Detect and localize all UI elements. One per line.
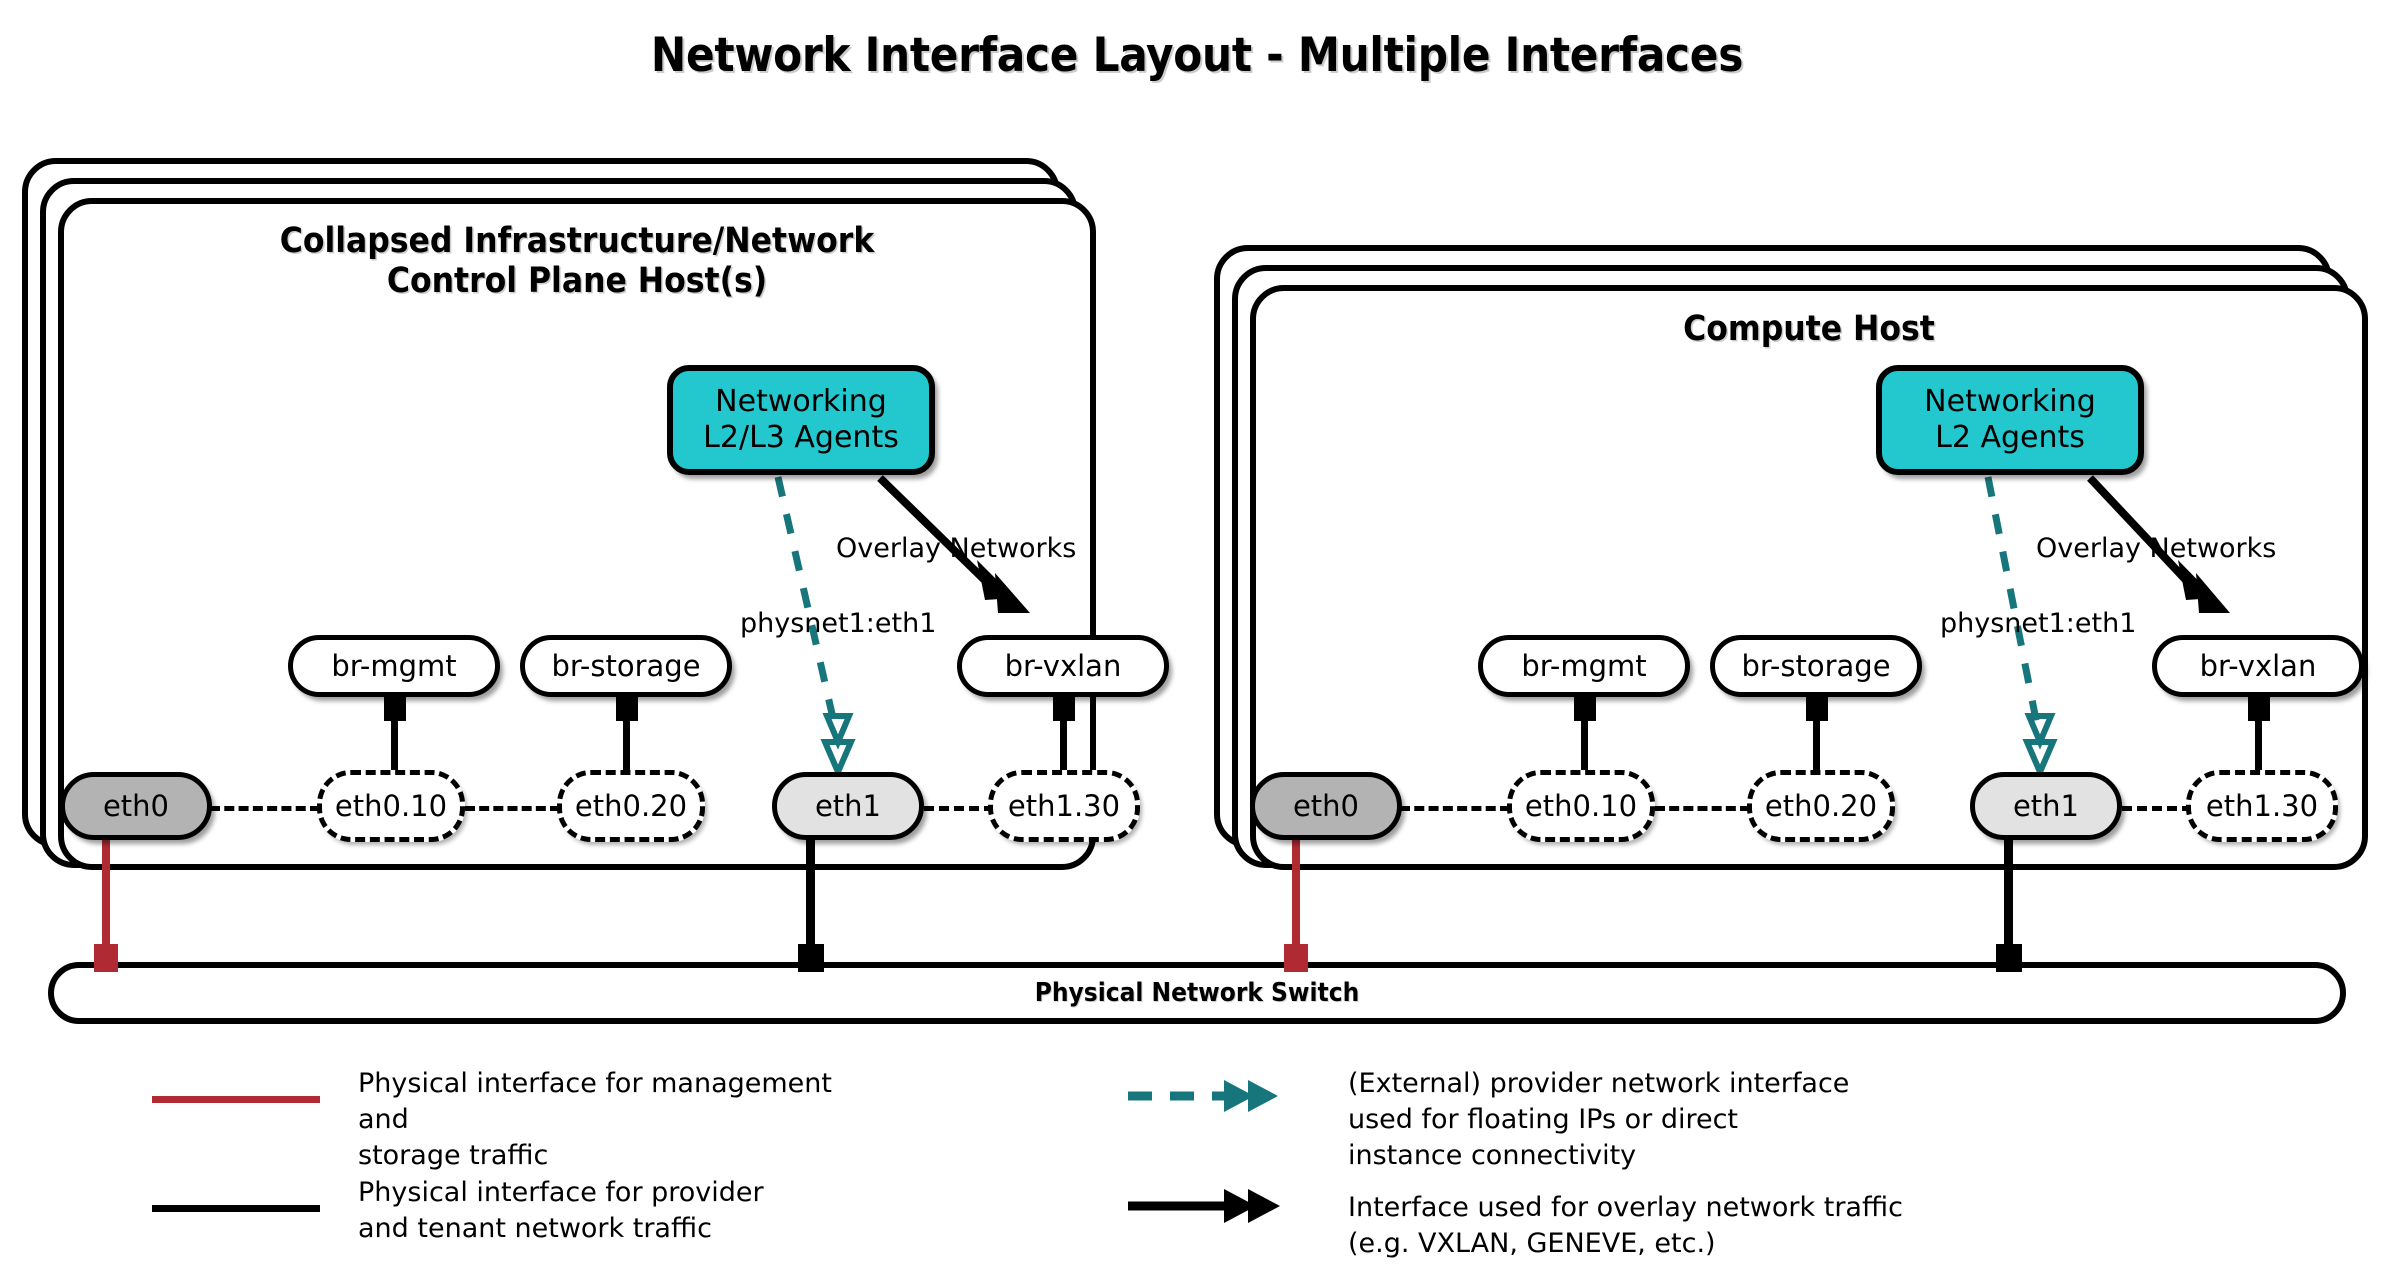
host-title-line-2: Control Plane Host(s) bbox=[58, 262, 1096, 302]
switch-port-plug-eth0-cp bbox=[94, 944, 118, 972]
bridge-plug-br-storage-cp bbox=[616, 695, 638, 721]
bridge-label: br-mgmt bbox=[331, 652, 456, 681]
interface-eth0-10-control-plane[interactable]: eth0.10 bbox=[317, 770, 465, 842]
networking-agents-box-compute[interactable]: Networking L2 Agents bbox=[1876, 365, 2144, 475]
interface-eth1-30-control-plane[interactable]: eth1.30 bbox=[988, 770, 1140, 842]
host-title-line-1: Compute Host bbox=[1250, 310, 2368, 350]
iface-link-eth0-eth0v10-cp bbox=[210, 806, 320, 811]
overlay-networks-label-control-plane: Overlay Networks bbox=[836, 533, 1076, 564]
legend-label-external-provider: (External) provider network interface us… bbox=[1348, 1066, 1968, 1174]
interface-eth0-20-compute[interactable]: eth0.20 bbox=[1747, 770, 1895, 842]
host-title-compute: Compute Host bbox=[1250, 310, 2368, 350]
uplink-eth1-to-switch-cp bbox=[806, 836, 815, 961]
bridge-label: br-storage bbox=[551, 652, 700, 681]
bridge-plug-br-mgmt-cp bbox=[384, 695, 406, 721]
interface-eth0-10-compute[interactable]: eth0.10 bbox=[1507, 770, 1655, 842]
uplink-eth1-to-switch-compute bbox=[2004, 836, 2013, 961]
bridge-br-storage-compute[interactable]: br-storage bbox=[1710, 635, 1922, 697]
physical-switch-label: Physical Network Switch bbox=[1035, 978, 1359, 1008]
uplink-eth0-to-switch-cp bbox=[102, 836, 110, 961]
bridge-br-vxlan-compute[interactable]: br-vxlan bbox=[2152, 635, 2364, 697]
interface-label: eth1.30 bbox=[1008, 792, 1120, 821]
uplink-eth0-to-switch-compute bbox=[1292, 836, 1300, 961]
interface-label: eth0 bbox=[1293, 792, 1359, 821]
interface-eth0-control-plane[interactable]: eth0 bbox=[60, 772, 212, 840]
bridge-br-vxlan-control-plane[interactable]: br-vxlan bbox=[957, 635, 1169, 697]
bridge-plug-br-vxlan-cp bbox=[1053, 695, 1075, 721]
interface-eth1-control-plane[interactable]: eth1 bbox=[772, 772, 924, 840]
networking-agents-box-control-plane[interactable]: Networking L2/L3 Agents bbox=[667, 365, 935, 475]
bridge-br-storage-control-plane[interactable]: br-storage bbox=[520, 635, 732, 697]
host-title-line-1: Collapsed Infrastructure/Network bbox=[58, 222, 1096, 262]
bridge-br-mgmt-compute[interactable]: br-mgmt bbox=[1478, 635, 1690, 697]
switch-port-plug-eth0-compute bbox=[1284, 944, 1308, 972]
legend-label-provider-tenant: Physical interface for provider and tena… bbox=[358, 1175, 878, 1247]
interface-label: eth0.10 bbox=[335, 792, 447, 821]
interface-label: eth1 bbox=[2013, 792, 2079, 821]
bridge-label: br-vxlan bbox=[2200, 652, 2317, 681]
interface-label: eth0.10 bbox=[1525, 792, 1637, 821]
interface-label: eth1 bbox=[815, 792, 881, 821]
legend-swatch-black-line bbox=[152, 1205, 320, 1212]
bridge-plug-br-vxlan-compute bbox=[2248, 695, 2270, 721]
agents-label-line-1: Networking bbox=[1924, 387, 2096, 417]
overlay-networks-label-compute: Overlay Networks bbox=[2036, 533, 2276, 564]
iface-link-eth0v10-eth0v20-compute bbox=[1655, 806, 1750, 811]
physnet-label-compute: physnet1:eth1 bbox=[1940, 608, 2136, 639]
interface-label: eth0.20 bbox=[1765, 792, 1877, 821]
bridge-label: br-vxlan bbox=[1005, 652, 1122, 681]
iface-link-eth0-eth0v10-compute bbox=[1400, 806, 1510, 811]
physnet-label-control-plane: physnet1:eth1 bbox=[740, 608, 936, 639]
bridge-label: br-storage bbox=[1741, 652, 1890, 681]
iface-link-eth0v10-eth0v20-cp bbox=[465, 806, 560, 811]
host-title-control-plane: Collapsed Infrastructure/Network Control… bbox=[58, 222, 1096, 302]
bridge-label: br-mgmt bbox=[1521, 652, 1646, 681]
switch-port-plug-eth1-cp bbox=[798, 944, 824, 972]
legend-swatch-red-line bbox=[152, 1096, 320, 1103]
interface-label: eth0 bbox=[103, 792, 169, 821]
bridge-br-mgmt-control-plane[interactable]: br-mgmt bbox=[288, 635, 500, 697]
switch-port-plug-eth1-compute bbox=[1996, 944, 2022, 972]
legend-label-overlay-traffic: Interface used for overlay network traff… bbox=[1348, 1190, 1968, 1262]
interface-eth1-30-compute[interactable]: eth1.30 bbox=[2186, 770, 2338, 842]
interface-eth0-compute[interactable]: eth0 bbox=[1250, 772, 1402, 840]
interface-eth0-20-control-plane[interactable]: eth0.20 bbox=[557, 770, 705, 842]
legend-swatch-black-arrow-icon bbox=[1120, 1180, 1300, 1240]
bridge-plug-br-storage-compute bbox=[1806, 695, 1828, 721]
interface-label: eth1.30 bbox=[2206, 792, 2318, 821]
interface-label: eth0.20 bbox=[575, 792, 687, 821]
agents-label-line-2: L2/L3 Agents bbox=[703, 423, 899, 453]
interface-eth1-compute[interactable]: eth1 bbox=[1970, 772, 2122, 840]
legend-swatch-dashed-teal-double-chevron-icon bbox=[1120, 1070, 1300, 1130]
agents-label-line-1: Networking bbox=[715, 387, 887, 417]
agents-label-line-2: L2 Agents bbox=[1935, 423, 2085, 453]
legend-label-mgmt-storage: Physical interface for management and st… bbox=[358, 1066, 878, 1174]
bridge-plug-br-mgmt-compute bbox=[1574, 695, 1596, 721]
page-title: Network Interface Layout - Multiple Inte… bbox=[0, 28, 2394, 83]
